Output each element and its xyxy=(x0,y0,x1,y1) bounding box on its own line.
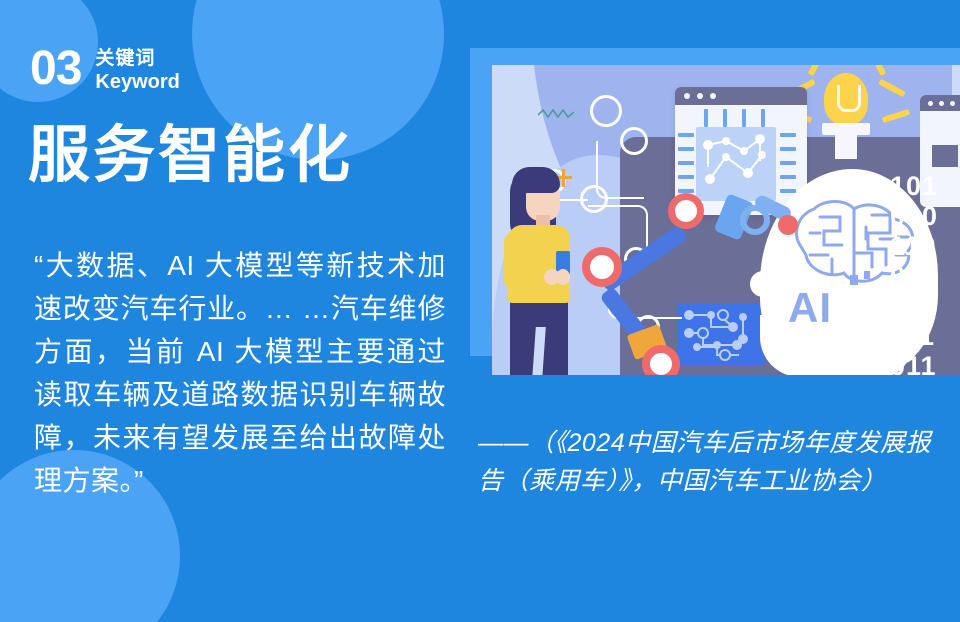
circuit-board-panel xyxy=(677,303,765,365)
chart-legend-bar xyxy=(780,161,796,165)
scatter-network-graphic xyxy=(696,127,776,201)
browser-dot-icon xyxy=(939,101,944,106)
chart-plot-area xyxy=(696,127,776,201)
chart-legend-bar xyxy=(678,147,694,151)
ai-head-profile xyxy=(750,271,776,297)
chart-legend-bar xyxy=(780,133,796,137)
chart-legend-bar xyxy=(780,147,796,151)
chart-legend-bar xyxy=(678,161,694,165)
section-keyword-block: 关键词 Keyword xyxy=(95,48,179,94)
woman-fringe xyxy=(512,167,560,193)
page-title: 服务智能化 xyxy=(28,122,353,190)
robot-arm-joint xyxy=(582,247,622,287)
network-node xyxy=(580,185,608,213)
quote-text: “大数据、AI 大模型等新技术加速改变汽车行业。… …汽车维修方面，当前 AI … xyxy=(34,244,446,502)
network-node xyxy=(620,127,648,155)
ai-technology-illustration: AI 101 000 110 001 100 111 011 xyxy=(492,65,960,375)
chart-legend-bar xyxy=(678,175,694,179)
left-content-column: 03 关键词 Keyword 服务智能化 “大数据、AI 大模型等新技术加速改变… xyxy=(0,0,470,622)
chart-tick xyxy=(761,109,765,127)
ai-label: AI xyxy=(788,287,832,329)
keyword-label-en: Keyword xyxy=(95,70,179,94)
browser-dot-icon xyxy=(697,93,703,99)
section-kicker: 03 关键词 Keyword xyxy=(30,46,180,94)
chart-legend-bar xyxy=(678,133,694,137)
ai-head-jaw xyxy=(760,315,910,375)
lightbulb-stem xyxy=(835,133,857,159)
robot-arm-joint xyxy=(668,193,704,229)
squiggle-accent-icon xyxy=(538,109,574,119)
lightbulb-filament xyxy=(837,85,861,112)
browser-dot-icon xyxy=(928,101,933,106)
browser-card-titlebar xyxy=(675,87,807,105)
browser-dot-icon xyxy=(950,101,955,106)
network-node xyxy=(590,95,622,127)
woman-hand-right xyxy=(556,269,570,285)
chart-legend-bar xyxy=(780,175,796,179)
chart-tick xyxy=(742,109,746,127)
browser-card-block xyxy=(932,145,958,167)
chart-tick xyxy=(704,109,708,127)
robot-gripper-tip xyxy=(778,215,798,235)
browser-dot-icon xyxy=(710,93,716,99)
slide-canvas: 03 关键词 Keyword 服务智能化 “大数据、AI 大模型等新技术加速改变… xyxy=(0,0,960,622)
woman-arm-left xyxy=(504,233,522,289)
source-attribution: ——（《2024中国汽车后市场年度发展报告（乘用车）》，中国汽车工业协会） xyxy=(478,424,948,500)
binary-digits: 101 000 110 001 100 111 011 xyxy=(890,171,938,375)
keyword-label-cn: 关键词 xyxy=(95,48,179,70)
chart-tick xyxy=(723,109,727,127)
section-number: 03 xyxy=(30,46,81,92)
browser-dot-icon xyxy=(684,93,690,99)
robot-arm-joint xyxy=(642,345,680,375)
circuit-traces-icon xyxy=(677,303,765,365)
